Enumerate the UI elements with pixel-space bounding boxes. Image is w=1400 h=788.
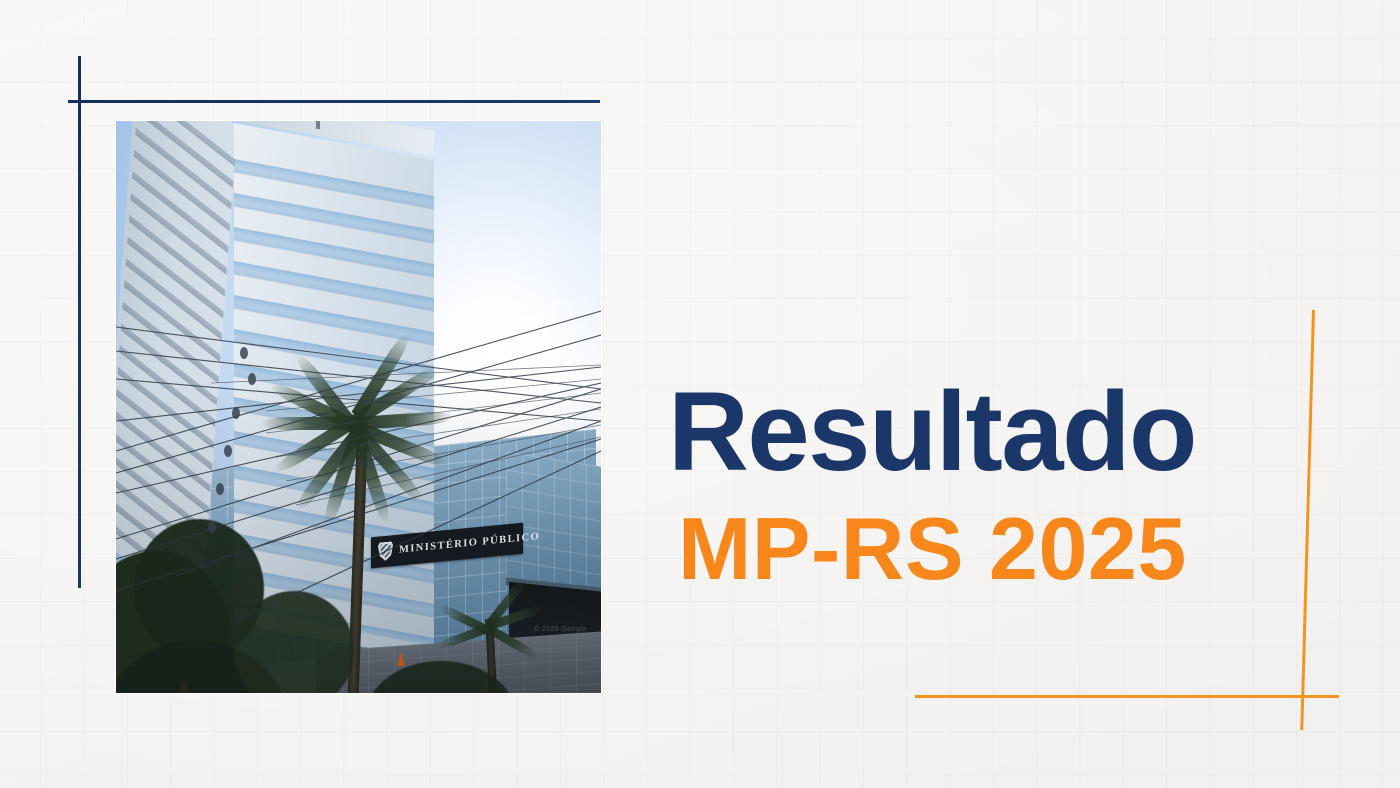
headline-block: Resultado MP-RS 2025 <box>668 376 1348 593</box>
orange-horizontal-rule <box>915 695 1339 698</box>
navy-vertical-rule <box>78 56 81 588</box>
slide-canvas: © 2025 Google MINISTÉRIO PÚBLICO <box>0 0 1400 788</box>
building-photo: © 2025 Google MINISTÉRIO PÚBLICO <box>116 121 601 693</box>
photo-color-grade <box>116 121 601 693</box>
page-subtitle: MP-RS 2025 <box>678 505 1348 593</box>
navy-horizontal-rule <box>68 100 600 103</box>
page-title: Resultado <box>668 376 1348 488</box>
